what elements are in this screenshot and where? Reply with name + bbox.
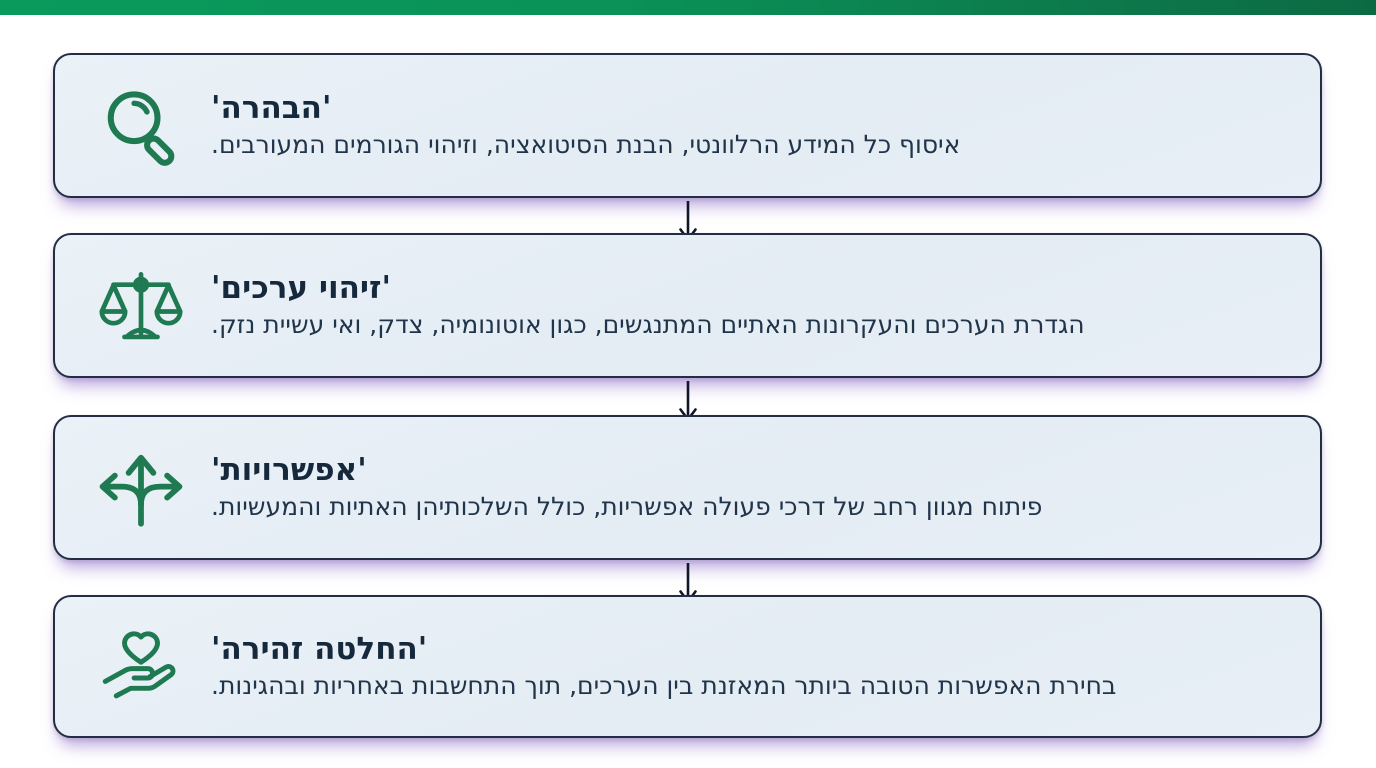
flow-step-description-3: פיתוח מגוון רחב של דרכי פעולה אפשריות, כ… [211,491,1042,522]
flow-step-description-4: בחירת האפשרות הטובה ביותר המאזנת בין הער… [211,670,1116,701]
flow-step-title-3: 'אפשרויות' [211,453,367,488]
flow-step-description-2: הגדרת הערכים והעקרונות האתיים המתנגשים, … [211,309,1085,340]
flow-step-card-1[interactable]: 'הבהרה' איסוף כל המידע הרלוונטי, הבנת הס… [53,53,1322,198]
ethical-decision-flow: 'הבהרה' איסוף כל המידע הרלוונטי, הבנת הס… [0,15,1376,768]
flow-step-title-2: 'זיהוי ערכים' [211,271,391,306]
flow-step-card-2[interactable]: 'זיהוי ערכים' הגדרת הערכים והעקרונות האת… [53,233,1322,378]
flow-step-text-1: 'הבהרה' איסוף כל המידע הרלוונטי, הבנת הס… [193,91,1290,161]
branching-arrows-icon [89,436,193,540]
flow-step-title-1: 'הבהרה' [211,91,331,126]
magnifier-icon [89,74,193,178]
flow-step-card-3[interactable]: 'אפשרויות' פיתוח מגוון רחב של דרכי פעולה… [53,415,1322,560]
balance-scales-icon [89,254,193,358]
flow-step-description-1: איסוף כל המידע הרלוונטי, הבנת הסיטואציה,… [211,129,960,160]
flow-step-title-4: 'החלטה זהירה' [211,632,427,667]
heart-in-hand-icon [89,615,193,719]
flow-step-card-4[interactable]: 'החלטה זהירה' בחירת האפשרות הטובה ביותר … [53,595,1322,738]
flow-step-text-2: 'זיהוי ערכים' הגדרת הערכים והעקרונות האת… [193,271,1290,341]
flow-step-text-4: 'החלטה זהירה' בחירת האפשרות הטובה ביותר … [193,632,1290,702]
flow-step-text-3: 'אפשרויות' פיתוח מגוון רחב של דרכי פעולה… [193,453,1290,523]
green-accent-bar [0,0,1376,15]
